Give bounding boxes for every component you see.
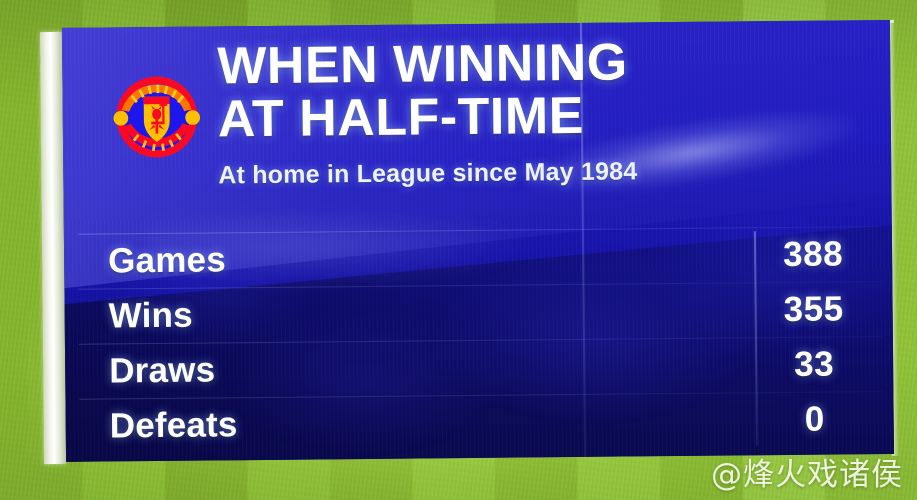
- table-row: Defeats 0: [65, 391, 893, 454]
- stat-label-defeats: Defeats: [66, 400, 756, 447]
- stat-label-games: Games: [64, 235, 754, 282]
- stat-value-wins: 355: [754, 288, 892, 329]
- table-row: Games 388: [64, 226, 892, 289]
- manchester-united-crest-icon: [110, 69, 203, 166]
- table-row: Wins 355: [64, 281, 892, 344]
- graphic-header: WHEN WINNING AT HALF-TIME At home in Lea…: [62, 36, 892, 234]
- stat-label-draws: Draws: [65, 345, 755, 392]
- advertising-board: WHEN WINNING AT HALF-TIME At home in Lea…: [40, 20, 900, 468]
- screenshot-root: WHEN WINNING AT HALF-TIME At home in Lea…: [0, 0, 917, 500]
- stat-value-games: 388: [754, 233, 892, 274]
- led-panel: WHEN WINNING AT HALF-TIME At home in Lea…: [62, 20, 894, 462]
- table-row: Draws 33: [65, 336, 893, 399]
- headline-subtitle: At home in League since May 1984: [218, 155, 871, 190]
- headline-line-1: WHEN WINNING: [217, 36, 870, 92]
- stat-label-wins: Wins: [64, 290, 754, 337]
- stat-value-defeats: 0: [756, 398, 894, 439]
- stat-value-draws: 33: [755, 343, 893, 384]
- panel-content: WHEN WINNING AT HALF-TIME At home in Lea…: [62, 20, 894, 462]
- headline-line-2: AT HALF-TIME: [218, 90, 871, 146]
- watermark-handle: @烽火戏诸侯: [711, 449, 903, 494]
- title-block: WHEN WINNING AT HALF-TIME At home in Lea…: [217, 36, 871, 190]
- stats-table: Games 388 Wins 355 Draws 33: [64, 226, 894, 458]
